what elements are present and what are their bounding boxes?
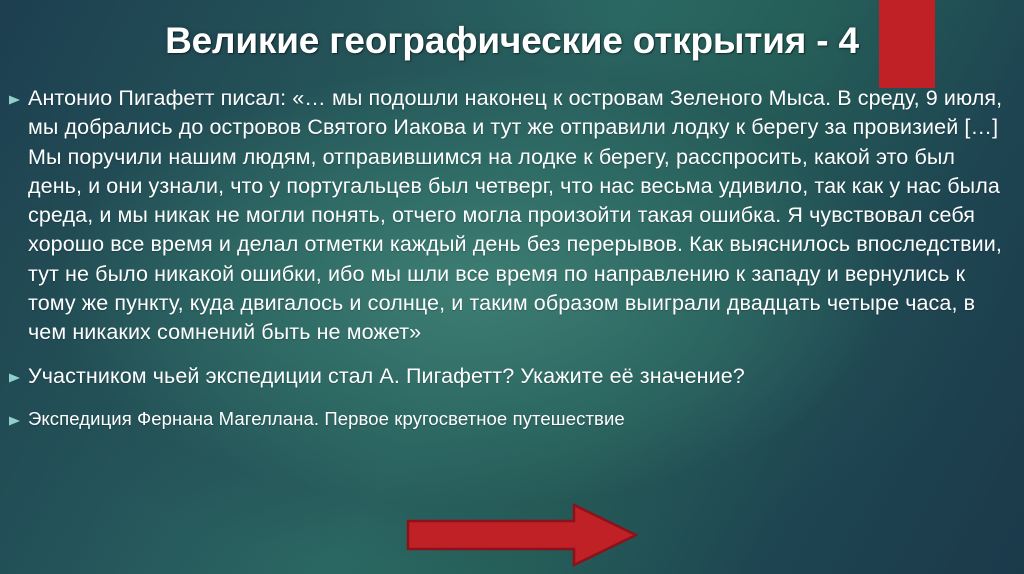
slide-title-bar: Великие географические открытия - 4 (0, 10, 1024, 72)
list-item-text: Участником чьей экспедиции стал А. Пигаф… (28, 362, 1010, 391)
list-item: Антонио Пигафетт писал: «… мы подошли на… (0, 84, 1010, 348)
list-item: Участником чьей экспедиции стал А. Пигаф… (0, 362, 1010, 391)
slide-canvas: Великие географические открытия - 4 Анто… (0, 0, 1024, 574)
triangle-right-bullet-icon (8, 415, 26, 427)
bullet-list: Антонио Пигафетт писал: «… мы подошли на… (0, 84, 1010, 432)
list-item-text: Антонио Пигафетт писал: «… мы подошли на… (28, 84, 1010, 348)
red-corner-bar (879, 0, 935, 88)
page-title: Великие географические открытия - 4 (165, 20, 859, 62)
red-right-arrow (406, 503, 638, 567)
list-item-text: Экспедиция Фернана Магеллана. Первое кру… (28, 405, 1010, 432)
triangle-right-bullet-icon (8, 372, 26, 384)
list-item: Экспедиция Фернана Магеллана. Первое кру… (0, 405, 1010, 432)
triangle-right-bullet-icon (8, 94, 26, 106)
